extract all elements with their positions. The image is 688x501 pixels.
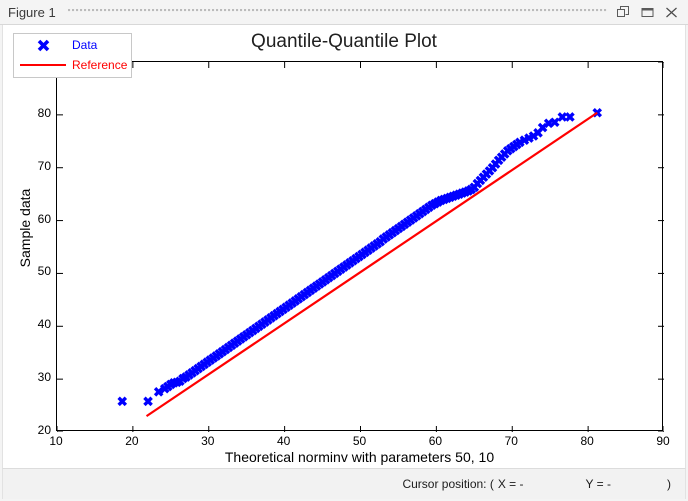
cursor-x-value: X = -: [498, 477, 524, 491]
close-button[interactable]: [664, 5, 679, 20]
cursor-position-readout: Cursor position: ( X = - Y = - ): [402, 477, 671, 491]
y-tick-label: 40: [21, 317, 51, 331]
x-tick-label: 20: [117, 434, 147, 448]
y-axis-title: Sample data: [17, 168, 33, 288]
x-tick-label: 90: [648, 434, 678, 448]
y-tick-label: 60: [21, 212, 51, 226]
y-tick-label: 70: [21, 159, 51, 173]
x-tick-label: 80: [572, 434, 602, 448]
figure-canvas[interactable]: Quantile-Quantile Plot 2030405060708090 …: [2, 25, 686, 468]
x-tick-label: 10: [41, 434, 71, 448]
x-axis-title: Theoretical norminv with parameters 50, …: [56, 449, 663, 465]
cursor-position-label: Cursor position: (: [402, 477, 493, 491]
window-title: Figure 1: [8, 5, 56, 20]
undock-button[interactable]: [616, 5, 631, 20]
data-marker-icon: [14, 36, 72, 54]
statusbar: Cursor position: ( X = - Y = - ): [2, 468, 686, 499]
x-tick-label: 50: [345, 434, 375, 448]
legend-label-data: Data: [72, 38, 97, 52]
cursor-y-value: Y = -: [586, 477, 611, 491]
y-tick-label: 20: [21, 423, 51, 437]
x-tick-label: 70: [496, 434, 526, 448]
maximize-button[interactable]: [640, 5, 655, 20]
reference-line-icon: [14, 56, 72, 74]
x-tick-label: 40: [269, 434, 299, 448]
legend-entry-data: Data: [14, 35, 131, 55]
y-tick-label: 30: [21, 370, 51, 384]
plot-svg: [57, 62, 664, 432]
titlebar-buttons: [616, 5, 679, 20]
titlebar-drag-grip[interactable]: [68, 8, 608, 17]
y-tick-label: 50: [21, 264, 51, 278]
legend-entry-reference: Reference: [14, 55, 131, 75]
plot-area[interactable]: [56, 61, 663, 431]
legend: Data Reference: [13, 33, 132, 78]
x-tick-label: 60: [420, 434, 450, 448]
legend-label-reference: Reference: [72, 58, 127, 72]
figure-window: Figure 1: [0, 0, 688, 501]
y-tick-label: 80: [21, 106, 51, 120]
x-tick-label: 30: [193, 434, 223, 448]
cursor-close-paren: ): [667, 477, 671, 491]
titlebar: Figure 1: [0, 0, 688, 25]
